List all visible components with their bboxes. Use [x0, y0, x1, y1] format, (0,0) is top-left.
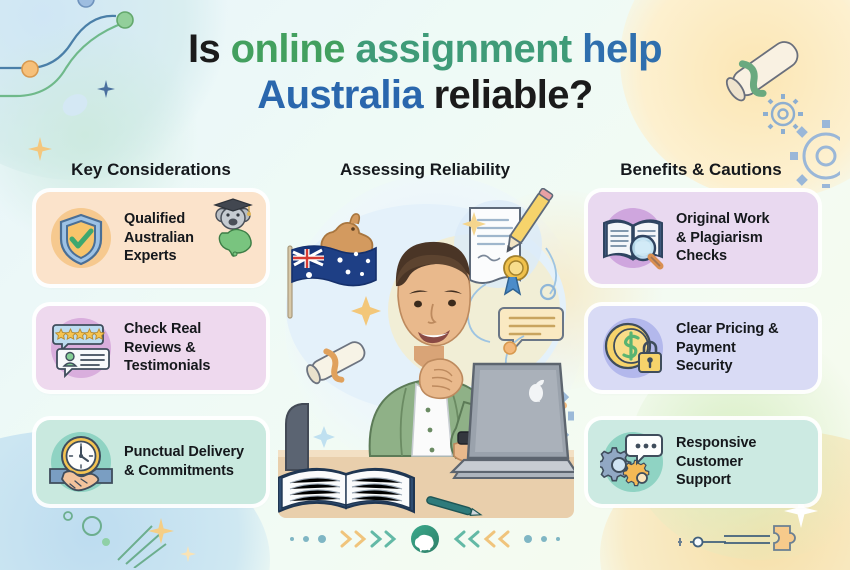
- card-line: Clear Pricing &: [676, 320, 778, 339]
- koala-graduate-australia-icon: [204, 196, 260, 258]
- card-line: Customer: [676, 453, 756, 472]
- card-label-responsive-customer-support: Responsive Customer Support: [676, 434, 756, 490]
- card-line: Support: [676, 471, 756, 490]
- book-magnifier-icon: [600, 205, 666, 271]
- card-label-check-real-reviews: Check Real Reviews & Testimonials: [124, 320, 210, 376]
- title-word-reliable: reliable?: [434, 73, 593, 117]
- card-label-original-work-plagiarism: Original Work & Plagiarism Checks: [676, 210, 770, 266]
- title-word-help: help: [582, 27, 662, 71]
- star-review-bubble-icon: [48, 315, 114, 381]
- page-title-line-2: Australia reliable?: [0, 72, 850, 118]
- column-heading-key-considerations: Key Considerations: [22, 160, 280, 180]
- coin-lock-icon: [600, 315, 666, 381]
- card-original-work-plagiarism[interactable]: Original Work & Plagiarism Checks: [588, 192, 818, 284]
- card-line: Reviews &: [124, 339, 210, 358]
- card-label-qualified-australian-experts: Qualified Australian Experts: [124, 210, 194, 266]
- card-line: Responsive: [676, 434, 756, 453]
- shield-check-icon: [48, 205, 114, 271]
- card-punctual-delivery[interactable]: Punctual Delivery & Commitments: [36, 420, 266, 504]
- card-line: Testimonials: [124, 357, 210, 376]
- card-line: Security: [676, 357, 778, 376]
- node-dot: [504, 342, 516, 354]
- card-line: Original Work: [676, 210, 770, 229]
- card-responsive-customer-support[interactable]: Responsive Customer Support: [588, 420, 818, 504]
- footer-divider: [0, 524, 850, 554]
- clock-handshake-icon: [48, 429, 114, 495]
- card-line: Checks: [676, 247, 770, 266]
- title-word-australia: Australia: [257, 73, 433, 117]
- page-title-line-1: Is online assignment help: [0, 26, 850, 72]
- card-qualified-australian-experts[interactable]: Qualified Australian Experts: [36, 192, 266, 284]
- open-book-icon: [278, 469, 414, 512]
- column-heading-assessing-reliability: Assessing Reliability: [297, 160, 553, 180]
- chevrons-dots-ornament: [446, 526, 566, 552]
- card-line: Australian: [124, 229, 194, 248]
- sparkle-icon: [28, 137, 52, 161]
- title-word-online: online: [231, 27, 356, 71]
- australia-map-badge-icon: [410, 524, 440, 554]
- title-word-is: Is: [188, 27, 231, 71]
- card-line: Punctual Delivery: [124, 443, 244, 462]
- dots-chevrons-ornament: [284, 526, 404, 552]
- card-line: & Commitments: [124, 462, 244, 481]
- card-check-real-reviews[interactable]: Check Real Reviews & Testimonials: [36, 306, 266, 390]
- card-line: Qualified: [124, 210, 194, 229]
- card-line: Check Real: [124, 320, 210, 339]
- sparkle-icon: [313, 426, 335, 448]
- infographic-canvas: Is online assignment help Australia reli…: [0, 0, 850, 570]
- gears-chat-icon: [600, 429, 666, 495]
- page-title: Is online assignment help Australia reli…: [0, 26, 850, 118]
- title-word-assignment: assignment: [355, 27, 582, 71]
- student-at-laptop-illustration: [278, 188, 574, 518]
- card-label-punctual-delivery: Punctual Delivery & Commitments: [124, 443, 244, 480]
- card-clear-pricing-payment-security[interactable]: Clear Pricing & Payment Security: [588, 306, 818, 390]
- card-line: Payment: [676, 339, 778, 358]
- card-label-clear-pricing-payment-security: Clear Pricing & Payment Security: [676, 320, 778, 376]
- card-line: & Plagiarism: [676, 229, 770, 248]
- column-heading-benefits-cautions: Benefits & Cautions: [572, 160, 830, 180]
- card-line: Experts: [124, 247, 194, 266]
